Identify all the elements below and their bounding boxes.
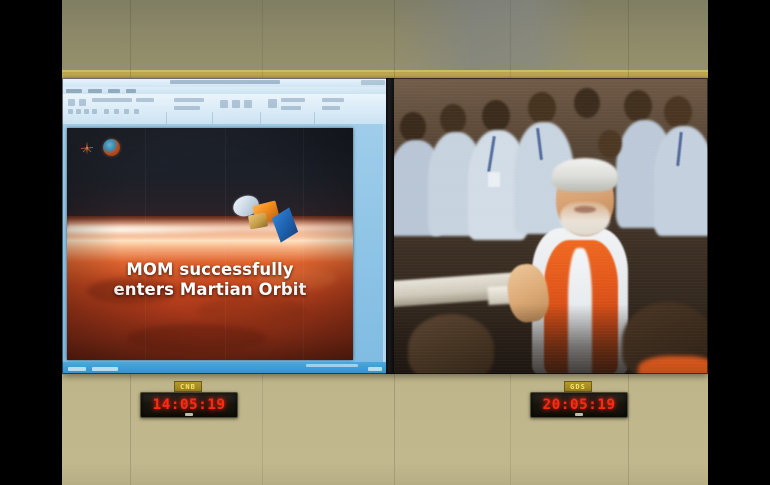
- ribbon-icon[interactable]: [268, 99, 277, 108]
- ribbon-icon[interactable]: [322, 106, 340, 110]
- video-wall: MOM successfully enters Martian Orbit: [62, 78, 708, 374]
- ribbon-icon[interactable]: [244, 100, 252, 108]
- ribbon-icon[interactable]: [79, 99, 86, 106]
- menu-item[interactable]: [108, 89, 120, 93]
- screenshot-stage: MOM successfully enters Martian Orbit: [0, 0, 770, 485]
- crowd-id-badge: [488, 172, 500, 187]
- dignitary-smile: [574, 206, 596, 213]
- clock-label-cnb: CNB: [174, 381, 202, 392]
- crowd-head: [528, 92, 556, 124]
- ribbon-icon[interactable]: [76, 109, 81, 114]
- clock-time-cnb: 14:05:19: [152, 397, 225, 413]
- ribbon-icon[interactable]: [68, 109, 73, 114]
- wall-accent-band-highlight: [62, 70, 708, 72]
- crowd-head: [624, 90, 652, 122]
- taskbar-app-button[interactable]: [92, 367, 118, 371]
- left-display-presentation[interactable]: MOM successfully enters Martian Orbit: [62, 78, 388, 374]
- menu-item[interactable]: [88, 89, 102, 93]
- ribbon-font-box[interactable]: [92, 98, 132, 102]
- menu-item[interactable]: [66, 89, 82, 93]
- ribbon-icon[interactable]: [174, 98, 204, 102]
- ribbon-icon[interactable]: [124, 109, 129, 114]
- clock-label-gds: GDS: [564, 381, 592, 392]
- ribbon-icon[interactable]: [134, 109, 139, 114]
- ribbon-icon[interactable]: [68, 99, 75, 106]
- system-tray[interactable]: [368, 367, 382, 371]
- slide-vignette: [67, 128, 353, 360]
- ribbon-icon[interactable]: [281, 106, 301, 110]
- ribbon-icon[interactable]: [232, 100, 240, 108]
- screen-bezel-divider: [386, 78, 394, 374]
- clock-time-gds: 20:05:19: [542, 397, 615, 413]
- crowd-head: [664, 96, 692, 128]
- crowd-head: [574, 88, 600, 118]
- wall-floor-shadow: [62, 462, 708, 485]
- foreground-head-left: [408, 314, 494, 374]
- ribbon-icon[interactable]: [92, 109, 97, 114]
- clock-indicator: [575, 413, 583, 416]
- ribbon-size-box[interactable]: [136, 98, 154, 102]
- ribbon-icon[interactable]: [322, 98, 344, 102]
- right-display-live-feed[interactable]: [392, 78, 708, 374]
- menu-item[interactable]: [126, 89, 136, 93]
- window-titlebar: [62, 78, 388, 87]
- window-title: [170, 80, 280, 84]
- clock-panel-gds: 20:05:19: [530, 392, 628, 418]
- crowd-head: [598, 130, 622, 158]
- ribbon-toolbar[interactable]: [62, 94, 388, 124]
- crowd-head: [400, 112, 426, 142]
- ribbon-icon[interactable]: [84, 109, 89, 114]
- ribbon-icon[interactable]: [220, 100, 228, 108]
- taskbar-clock: [306, 364, 358, 367]
- ribbon-icon[interactable]: [104, 109, 109, 114]
- clock-indicator: [185, 413, 193, 416]
- presentation-slide[interactable]: MOM successfully enters Martian Orbit: [67, 128, 353, 360]
- wall-light-sheen: [392, 0, 592, 72]
- letterbox-bar-right: [708, 0, 770, 485]
- ribbon-icon[interactable]: [114, 109, 119, 114]
- crowd-head: [482, 100, 510, 132]
- ribbon-icon[interactable]: [281, 98, 305, 102]
- dignitary-hair: [552, 158, 618, 192]
- letterbox-bar-left: [0, 0, 62, 485]
- wall-upper-section: [62, 0, 708, 72]
- foreground-shoulder-right: [638, 356, 708, 374]
- window-controls[interactable]: [361, 80, 385, 85]
- taskbar-start-button[interactable]: [68, 367, 86, 371]
- ribbon-icon[interactable]: [174, 106, 200, 110]
- presentation-application-window: MOM successfully enters Martian Orbit: [62, 78, 388, 374]
- crowd-head: [440, 104, 466, 134]
- clock-panel-cnb: 14:05:19: [140, 392, 238, 418]
